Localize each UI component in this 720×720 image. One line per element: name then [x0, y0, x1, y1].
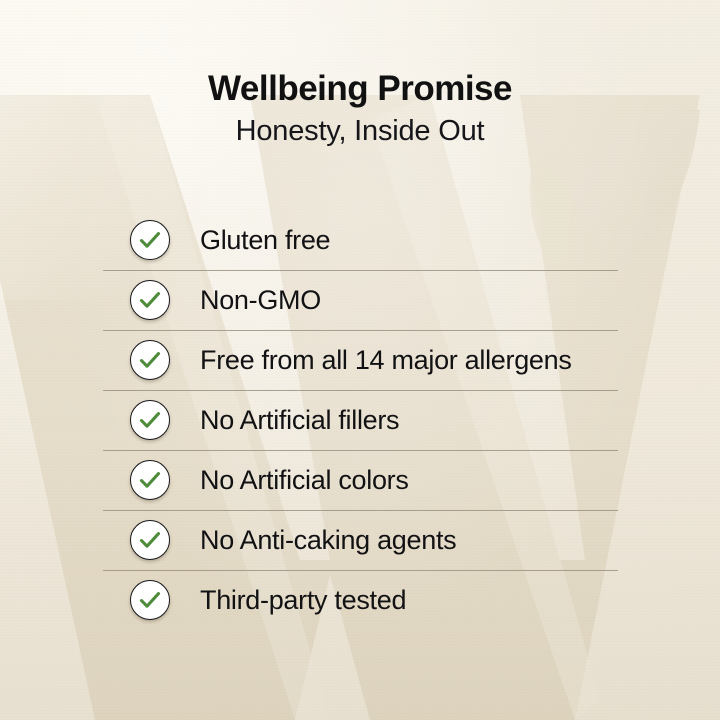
page-title: Wellbeing Promise	[0, 0, 720, 108]
check-circle-icon	[130, 520, 170, 560]
page-subtitle: Honesty, Inside Out	[0, 108, 720, 148]
list-item-label: Free from all 14 major allergens	[200, 345, 572, 376]
header: Wellbeing Promise Honesty, Inside Out	[0, 0, 720, 148]
list-item-label: No Artificial fillers	[200, 405, 399, 436]
promise-card: Wellbeing Promise Honesty, Inside Out Gl…	[0, 0, 720, 720]
list-item: Non-GMO	[103, 270, 618, 330]
list-item-label: Non-GMO	[200, 285, 321, 316]
list-item: No Anti-caking agents	[103, 510, 618, 570]
check-circle-icon	[130, 340, 170, 380]
list-item: Gluten free	[103, 210, 618, 270]
check-circle-icon	[130, 220, 170, 260]
list-item: No Artificial colors	[103, 450, 618, 510]
list-item: No Artificial fillers	[103, 390, 618, 450]
check-circle-icon	[130, 460, 170, 500]
list-item-label: No Anti-caking agents	[200, 525, 456, 556]
check-circle-icon	[130, 280, 170, 320]
list-item-label: Third-party tested	[200, 585, 406, 616]
promise-checklist: Gluten free Non-GMO Free from all 14 maj…	[103, 210, 618, 630]
list-item: Third-party tested	[103, 570, 618, 630]
list-item: Free from all 14 major allergens	[103, 330, 618, 390]
check-circle-icon	[130, 400, 170, 440]
list-item-label: Gluten free	[200, 225, 330, 256]
check-circle-icon	[130, 580, 170, 620]
list-item-label: No Artificial colors	[200, 465, 409, 496]
